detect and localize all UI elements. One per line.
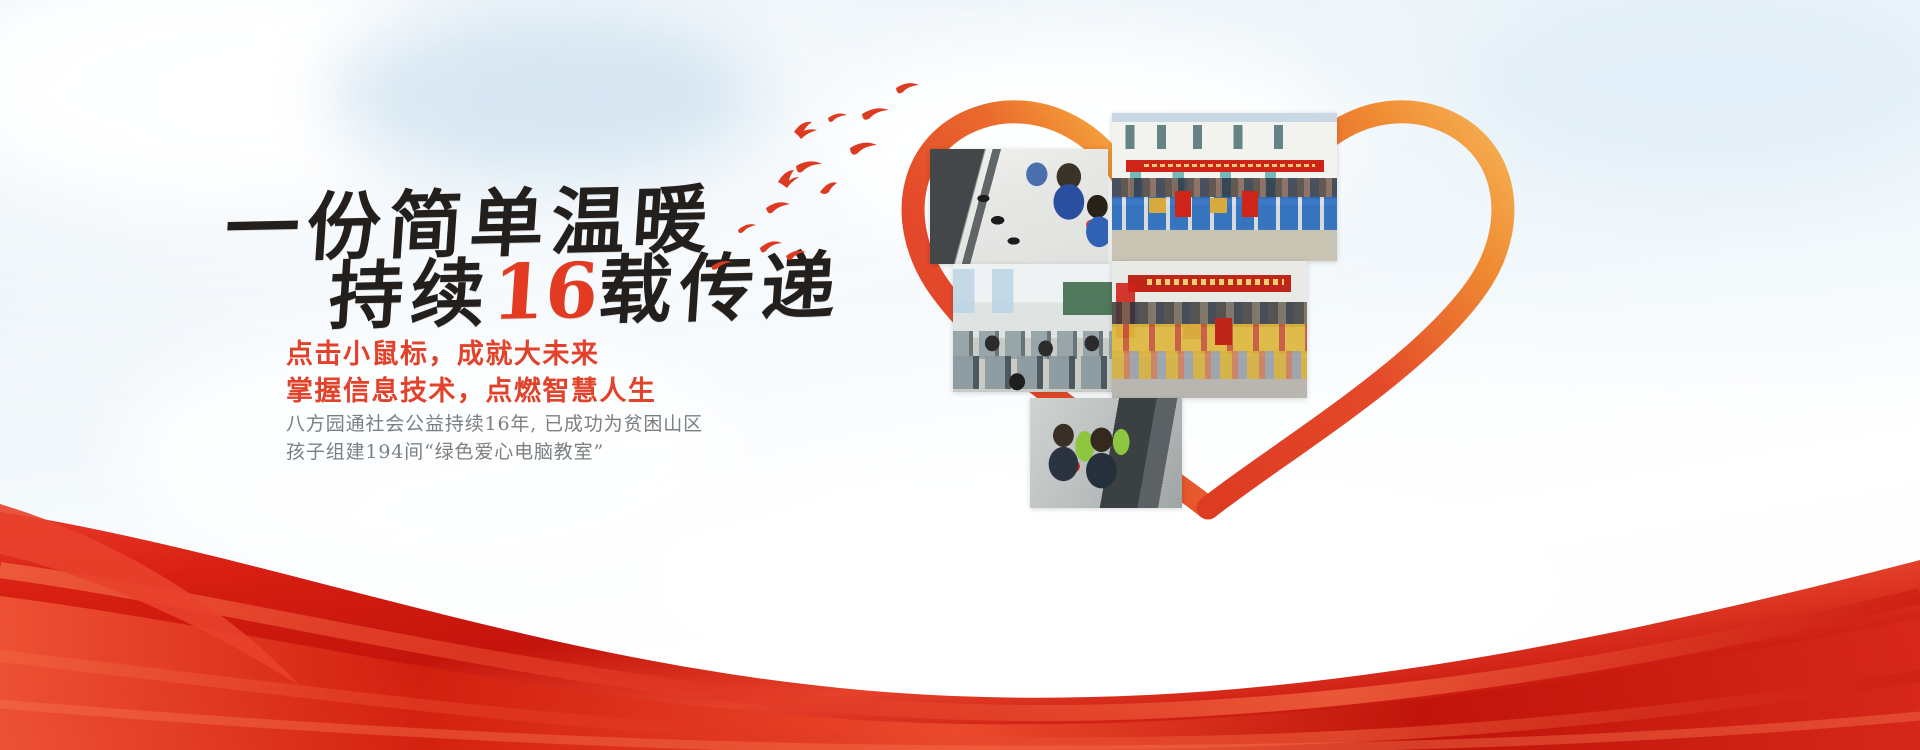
subtitle-line-2: 掌握信息技术，点燃智慧人生 [286, 369, 656, 408]
headline-prefix: 持续 [326, 251, 495, 340]
charity-banner: 一份简单温暖 持续16载传递 点击小鼠标，成就大未来 掌握信息技术，点燃智慧人生… [0, 0, 1920, 750]
photo-students-computer-lab [930, 149, 1108, 264]
photo-donation-ceremony-schoolyard [1112, 113, 1337, 261]
subtitle-line-1: 点击小鼠标，成就大未来 [286, 332, 599, 371]
photo-donation-ceremony-indoor [1112, 261, 1307, 398]
photo-classroom-monitors [953, 264, 1131, 392]
headline-years-number: 16 [489, 246, 601, 337]
red-silk-ribbon-icon [0, 420, 1920, 750]
